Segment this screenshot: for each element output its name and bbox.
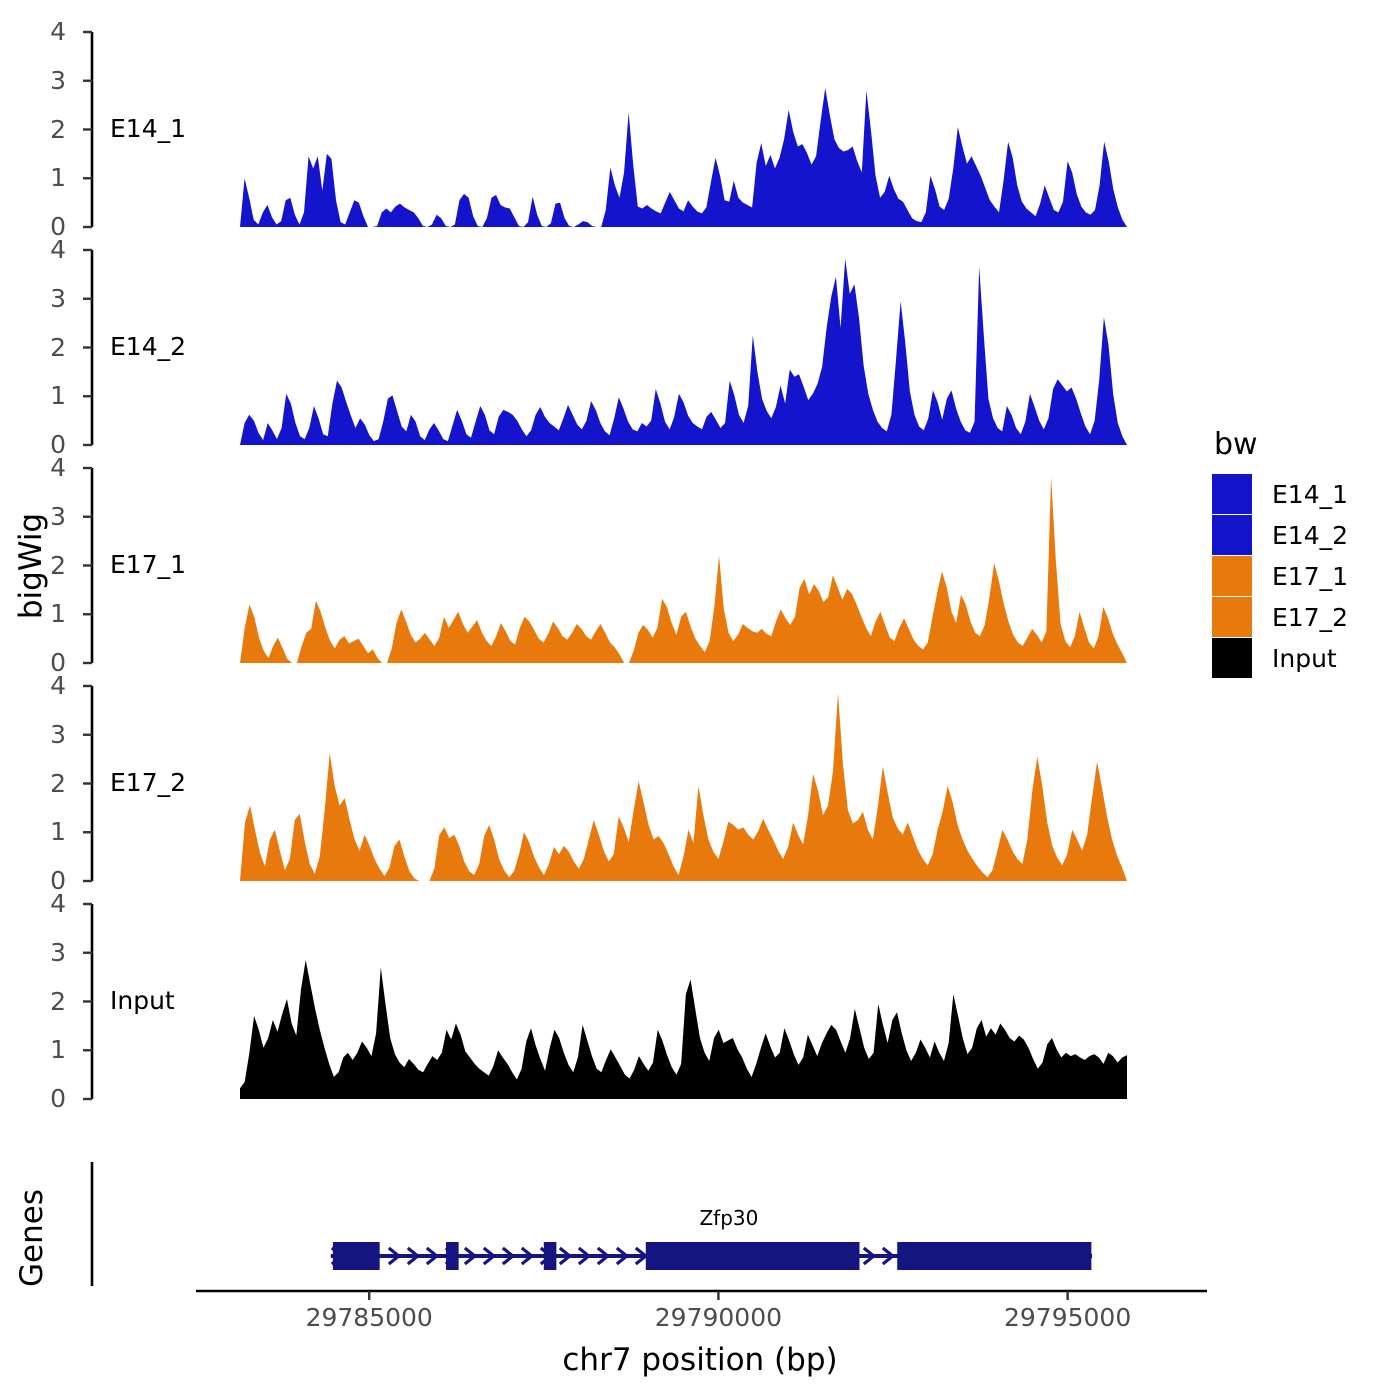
track-label-e17_2: E17_2 (110, 770, 186, 795)
y-tick-label: 1 (36, 819, 66, 844)
legend-item-e14_2[interactable]: E14_2 (1212, 515, 1392, 555)
signal-area (240, 88, 1127, 227)
y-tick-label: 3 (36, 940, 66, 965)
y-tick-label: 4 (36, 891, 66, 916)
bigwig-track-input (0, 900, 1400, 1109)
bigwig-track-e17_2 (0, 682, 1400, 891)
exon-box (446, 1242, 459, 1270)
y-tick-label: 2 (36, 117, 66, 142)
legend-title: bw (1214, 430, 1392, 460)
legend-item-label: E14_1 (1272, 482, 1348, 507)
y-tick-label: 3 (36, 722, 66, 747)
bigwig-track-e17_1 (0, 464, 1400, 673)
genome-browser-figure: bigWig Genes 01234E14_101234E14_201234E1… (0, 0, 1400, 1400)
track-label-e14_1: E14_1 (110, 116, 186, 141)
exon-box (544, 1242, 557, 1270)
signal-area (240, 259, 1127, 445)
bigwig-track-e14_1 (0, 28, 1400, 237)
y-tick-label: 3 (36, 286, 66, 311)
y-tick-label: 4 (36, 455, 66, 480)
y-tick-label: 4 (36, 19, 66, 44)
legend-item-input[interactable]: Input (1212, 638, 1392, 678)
signal-area (240, 693, 1127, 881)
legend-item-label: E17_2 (1272, 605, 1348, 630)
legend-item-e14_1[interactable]: E14_1 (1212, 474, 1392, 514)
y-tick-label: 1 (36, 165, 66, 190)
track-label-e14_2: E14_2 (110, 334, 186, 359)
legend-item-e17_1[interactable]: E17_1 (1212, 556, 1392, 596)
exon-box (333, 1242, 380, 1270)
legend-color-swatch (1212, 515, 1252, 555)
track-label-e17_1: E17_1 (110, 552, 186, 577)
legend-color-swatch (1212, 474, 1252, 514)
y-tick-label: 2 (36, 989, 66, 1014)
signal-area (240, 477, 1127, 663)
y-tick-label: 2 (36, 771, 66, 796)
x-axis-svg (0, 1288, 1400, 1312)
legend-color-swatch (1212, 597, 1252, 637)
y-tick-label: 2 (36, 335, 66, 360)
exon-box (646, 1242, 860, 1270)
legend-color-swatch (1212, 638, 1252, 678)
legend: bw E14_1E14_2E17_1E17_2Input (1212, 430, 1392, 679)
bigwig-track-e14_2 (0, 246, 1400, 455)
y-tick-label: 0 (36, 1086, 66, 1111)
signal-area (240, 960, 1127, 1099)
y-tick-label: 3 (36, 68, 66, 93)
y-tick-label: 4 (36, 673, 66, 698)
x-axis-title: chr7 position (bp) (0, 1342, 1400, 1378)
legend-item-label: E14_2 (1272, 523, 1348, 548)
y-tick-label: 4 (36, 237, 66, 262)
exon-box (897, 1242, 1091, 1270)
legend-item-label: Input (1272, 646, 1337, 671)
legend-item-label: E17_1 (1272, 564, 1348, 589)
track-label-input: Input (110, 988, 175, 1013)
gene-name-label: Zfp30 (699, 1208, 758, 1228)
legend-item-e17_2[interactable]: E17_2 (1212, 597, 1392, 637)
legend-item-list: E14_1E14_2E17_1E17_2Input (1212, 474, 1392, 678)
y-tick-label: 1 (36, 601, 66, 626)
y-tick-label: 1 (36, 383, 66, 408)
y-tick-label: 1 (36, 1037, 66, 1062)
y-tick-label: 3 (36, 504, 66, 529)
y-tick-label: 2 (36, 553, 66, 578)
legend-color-swatch (1212, 556, 1252, 596)
